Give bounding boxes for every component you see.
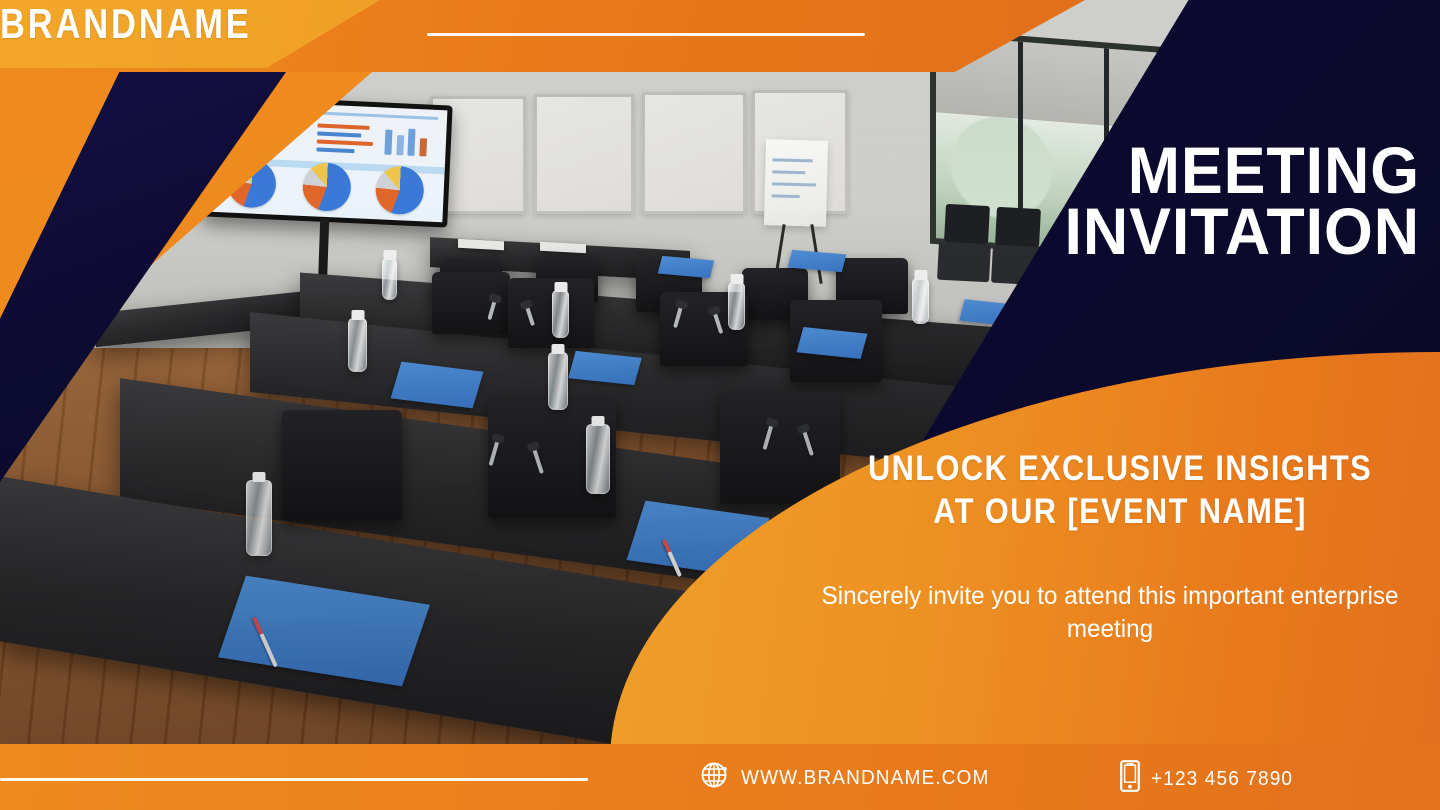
meeting-invitation-poster: BRANDNAME MEETING INVITATION UNLOCK EXCL…: [0, 0, 1440, 810]
title-line-1: MEETING: [926, 140, 1420, 201]
mobile-phone-icon: [1120, 760, 1140, 798]
globe-icon: [700, 760, 730, 796]
brand-logo-text: BRANDNAME: [0, 0, 1181, 48]
page-title: MEETING INVITATION: [900, 140, 1420, 263]
headline-line-2: AT OUR [EVENT NAME]: [856, 491, 1384, 534]
invitation-subtext: Sincerely invite you to attend this impo…: [809, 580, 1410, 645]
phone-contact[interactable]: +123 456 7890: [1120, 760, 1301, 798]
footer-divider-line: [0, 778, 588, 781]
headline-line-1: UNLOCK EXCLUSIVE INSIGHTS: [856, 448, 1384, 491]
title-line-2: INVITATION: [926, 201, 1420, 262]
subtext-line-1: Sincerely invite you to attend this impo…: [822, 582, 1284, 610]
headline: UNLOCK EXCLUSIVE INSIGHTS AT OUR [EVENT …: [820, 448, 1420, 533]
website-contact[interactable]: WWW.BRANDNAME.COM: [700, 760, 1003, 796]
phone-text: +123 456 7890: [1151, 768, 1293, 791]
website-text: WWW.BRANDNAME.COM: [741, 767, 989, 790]
